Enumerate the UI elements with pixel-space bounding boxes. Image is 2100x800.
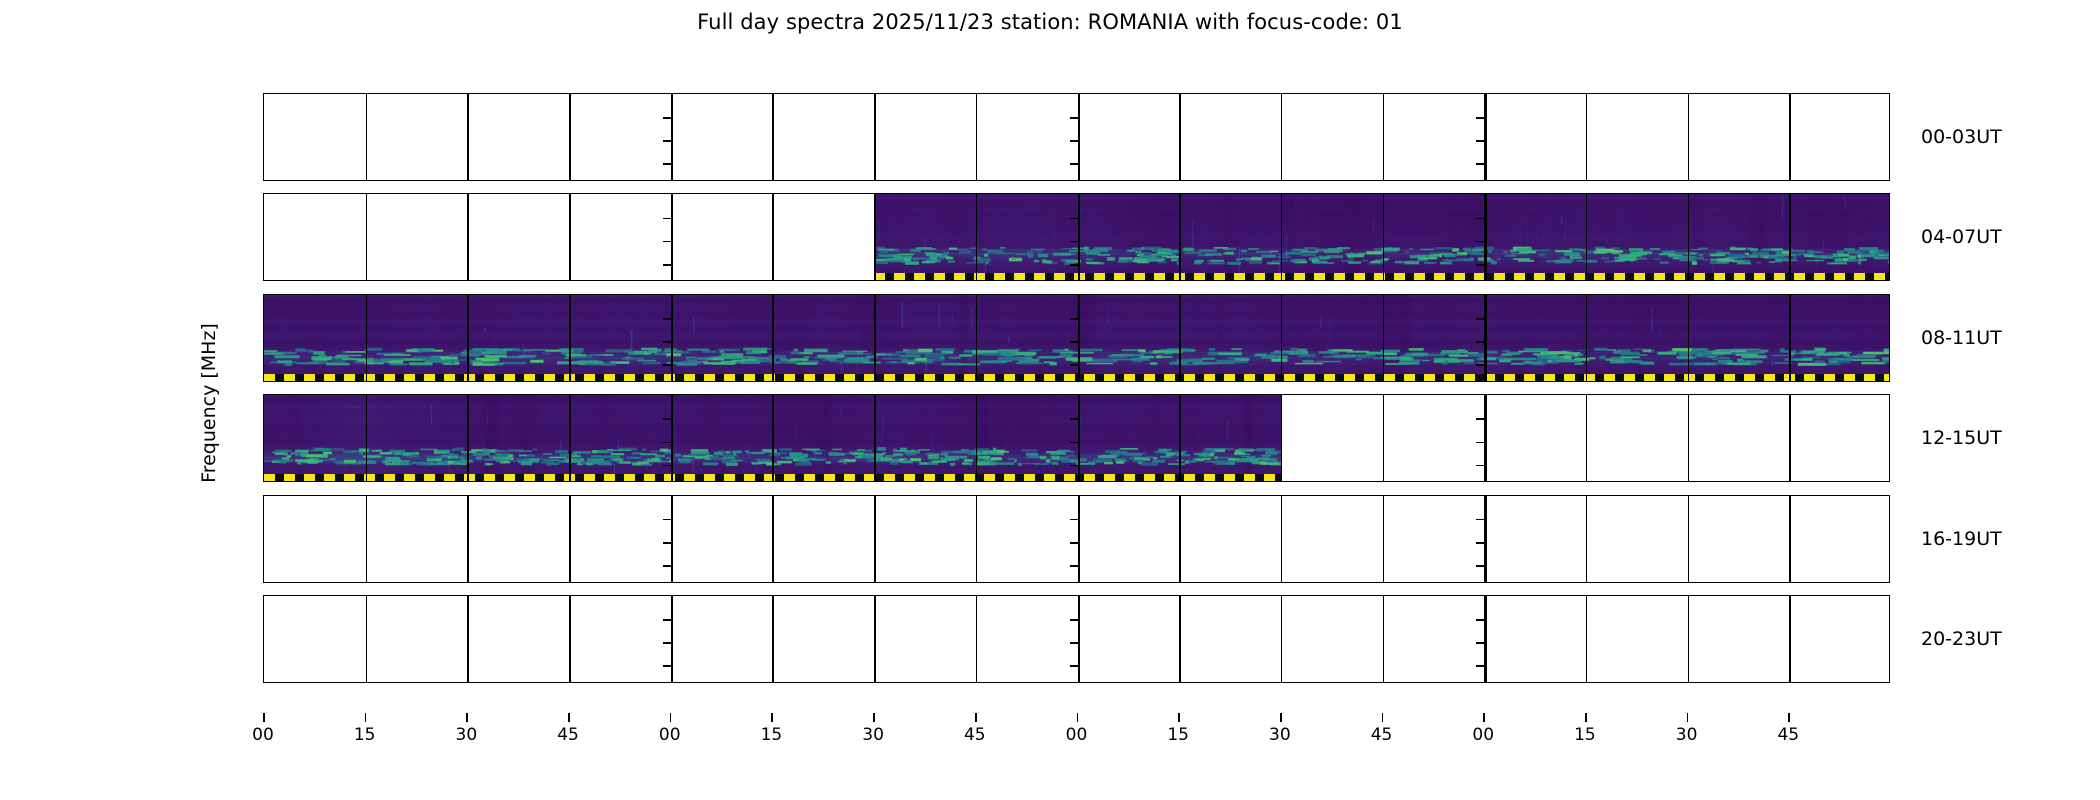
y-tick-mark xyxy=(263,619,264,621)
y-tick-mark-inner xyxy=(663,542,671,544)
panel-column-separator xyxy=(1688,94,1690,180)
panel-column-separator xyxy=(366,395,368,481)
y-tick-mark xyxy=(263,418,264,420)
panel-column-separator xyxy=(1078,94,1081,180)
panel-column-separator xyxy=(467,596,469,682)
x-tick-label: 00 xyxy=(252,727,274,744)
y-tick-mark-inner xyxy=(663,465,671,467)
spectrogram-image xyxy=(874,194,1889,280)
x-tick-mark xyxy=(263,713,265,722)
panel-column-separator xyxy=(1688,496,1690,582)
panel-canvas-area xyxy=(264,596,1889,682)
burst-marker-dashed-line xyxy=(874,273,1889,280)
y-tick-mark-inner xyxy=(1070,465,1078,467)
y-tick-mark xyxy=(263,140,264,142)
panel-column-separator xyxy=(569,194,571,280)
panel-column-separator xyxy=(467,94,469,180)
x-tick-label: 15 xyxy=(1574,727,1596,744)
x-tick-label: 00 xyxy=(1066,727,1088,744)
x-tick-mark xyxy=(568,713,570,722)
x-tick-label: 45 xyxy=(1371,727,1393,744)
spectra-figure: Full day spectra 2025/11/23 station: ROM… xyxy=(0,0,2100,800)
y-tick-mark-inner xyxy=(663,665,671,667)
y-tick-mark-inner xyxy=(1070,218,1078,220)
panel-column-separator xyxy=(467,496,469,582)
panel-column-separator xyxy=(772,194,774,280)
panel-canvas-area xyxy=(264,295,1889,381)
panel-column-separator xyxy=(1179,194,1181,280)
y-tick-mark-inner xyxy=(663,241,671,243)
panel-column-separator xyxy=(1078,496,1081,582)
x-tick-label: 15 xyxy=(761,727,783,744)
panel-column-separator xyxy=(1179,295,1181,381)
panel-column-separator xyxy=(1281,194,1283,280)
panel-column-separator xyxy=(467,295,469,381)
x-tick-mark xyxy=(975,713,977,722)
panel-column-separator xyxy=(1484,295,1487,381)
x-tick-mark xyxy=(1178,713,1180,722)
y-tick-mark-inner xyxy=(1476,140,1484,142)
spectrogram-panel-04-07[interactable]: 300200100 xyxy=(263,193,1890,281)
panel-column-separator xyxy=(874,194,876,280)
x-tick-label: 00 xyxy=(659,727,681,744)
figure-title: Full day spectra 2025/11/23 station: ROM… xyxy=(0,10,2100,34)
x-tick-label: 00 xyxy=(1472,727,1494,744)
y-tick-mark-inner xyxy=(1476,619,1484,621)
burst-marker-dashed-line xyxy=(264,374,1889,381)
y-tick-mark-inner xyxy=(1070,665,1078,667)
y-tick-mark-inner xyxy=(1070,418,1078,420)
x-tick-mark xyxy=(670,713,672,722)
y-tick-mark-inner xyxy=(1070,241,1078,243)
x-tick-mark xyxy=(873,713,875,722)
panel-column-separator xyxy=(671,94,674,180)
panel-column-separator xyxy=(569,94,571,180)
panel-column-separator xyxy=(1179,94,1181,180)
y-tick-mark xyxy=(263,163,264,165)
y-tick-mark xyxy=(263,264,264,266)
y-tick-mark-inner xyxy=(1070,341,1078,343)
panel-column-separator xyxy=(1281,596,1283,682)
y-tick-mark xyxy=(263,642,264,644)
panel-column-separator xyxy=(1078,295,1081,381)
panel-column-separator xyxy=(1281,496,1283,582)
y-tick-mark-inner xyxy=(1476,519,1484,521)
panel-column-separator xyxy=(1383,496,1385,582)
panel-column-separator xyxy=(976,596,978,682)
y-tick-mark-inner xyxy=(1476,418,1484,420)
y-tick-mark-inner xyxy=(663,642,671,644)
y-tick-mark-inner xyxy=(1476,465,1484,467)
y-tick-mark-inner xyxy=(1070,519,1078,521)
x-tick-label: 30 xyxy=(456,727,478,744)
y-tick-mark-inner xyxy=(1476,542,1484,544)
y-tick-mark-inner xyxy=(663,117,671,119)
spectrogram-panel-16-19[interactable]: 300200100 xyxy=(263,495,1890,583)
y-tick-mark-inner xyxy=(1070,117,1078,119)
y-tick-mark-inner xyxy=(1476,442,1484,444)
y-tick-mark-inner xyxy=(663,418,671,420)
y-tick-mark-inner xyxy=(663,218,671,220)
panel-column-separator xyxy=(976,94,978,180)
panel-column-separator xyxy=(366,596,368,682)
y-tick-mark-inner xyxy=(1476,218,1484,220)
panel-column-separator xyxy=(671,496,674,582)
panel-column-separator xyxy=(1383,596,1385,682)
panel-column-separator xyxy=(1484,496,1487,582)
panel-column-separator xyxy=(1179,395,1181,481)
y-tick-mark-inner xyxy=(663,565,671,567)
y-tick-mark-inner xyxy=(663,442,671,444)
y-tick-mark xyxy=(263,318,264,320)
panel-column-separator xyxy=(1484,94,1487,180)
panel-column-separator xyxy=(366,295,368,381)
y-tick-mark xyxy=(263,465,264,467)
y-tick-mark xyxy=(263,117,264,119)
y-tick-mark-inner xyxy=(1070,318,1078,320)
y-tick-mark-inner xyxy=(663,341,671,343)
x-tick-mark xyxy=(1687,713,1689,722)
panel-column-separator xyxy=(1789,596,1791,682)
x-tick-label: 45 xyxy=(964,727,986,744)
panel-column-separator xyxy=(976,295,978,381)
panel-column-separator xyxy=(874,395,876,481)
x-tick-label: 30 xyxy=(1676,727,1698,744)
y-tick-mark-inner xyxy=(1476,364,1484,366)
panel-column-separator xyxy=(1383,94,1385,180)
panel-column-separator xyxy=(569,596,571,682)
panel-column-separator xyxy=(1179,596,1181,682)
panel-column-separator xyxy=(467,194,469,280)
y-tick-mark-inner xyxy=(663,163,671,165)
panel-column-separator xyxy=(1586,94,1588,180)
panel-column-separator xyxy=(874,295,876,381)
y-tick-mark-inner xyxy=(1070,442,1078,444)
panel-column-separator xyxy=(1586,496,1588,582)
panel-column-separator xyxy=(1789,295,1791,381)
panel-column-separator xyxy=(1586,194,1588,280)
x-tick-label: 15 xyxy=(1167,727,1189,744)
panel-column-separator xyxy=(1789,94,1791,180)
panel-column-separator xyxy=(1078,596,1081,682)
panel-canvas-area xyxy=(264,395,1889,481)
x-tick-mark xyxy=(1788,713,1790,722)
y-tick-mark-inner xyxy=(663,519,671,521)
y-tick-mark-inner xyxy=(1070,264,1078,266)
x-tick-mark xyxy=(1483,713,1485,722)
panel-time-label-20-23: 20-23UT xyxy=(1921,628,2002,650)
panel-column-separator xyxy=(366,94,368,180)
y-tick-mark-inner xyxy=(1476,318,1484,320)
y-tick-mark-inner xyxy=(1070,163,1078,165)
panel-column-separator xyxy=(1078,194,1081,280)
panel-column-separator xyxy=(772,395,774,481)
panel-column-separator xyxy=(569,295,571,381)
panel-column-separator xyxy=(1281,94,1283,180)
panel-column-separator xyxy=(772,596,774,682)
y-tick-mark xyxy=(263,442,264,444)
spectrogram-panel-20-23[interactable]: 300200100 xyxy=(263,595,1890,683)
panel-column-separator xyxy=(1383,395,1385,481)
panel-column-separator xyxy=(1383,194,1385,280)
panel-column-separator xyxy=(671,596,674,682)
y-tick-mark-inner xyxy=(1070,619,1078,621)
x-tick-label: 30 xyxy=(1269,727,1291,744)
panel-column-separator xyxy=(976,395,978,481)
y-tick-mark-inner xyxy=(1476,565,1484,567)
panel-canvas-area xyxy=(264,94,1889,180)
x-tick-label: 45 xyxy=(557,727,579,744)
panel-column-separator xyxy=(1688,596,1690,682)
spectrogram-image xyxy=(264,295,1889,381)
panel-column-separator xyxy=(569,496,571,582)
y-tick-mark-inner xyxy=(1476,163,1484,165)
x-tick-mark xyxy=(1585,713,1587,722)
y-tick-mark xyxy=(263,241,264,243)
y-tick-mark-inner xyxy=(1070,364,1078,366)
y-tick-mark-inner xyxy=(663,364,671,366)
y-tick-mark xyxy=(263,218,264,220)
x-tick-mark xyxy=(466,713,468,722)
x-tick-mark xyxy=(1382,713,1384,722)
panel-time-label-04-07: 04-07UT xyxy=(1921,226,2002,248)
panel-column-separator xyxy=(1688,194,1690,280)
panel-column-separator xyxy=(1383,295,1385,381)
panel-column-separator xyxy=(1179,496,1181,582)
x-tick-mark xyxy=(1280,713,1282,722)
panel-column-separator xyxy=(1789,496,1791,582)
y-tick-mark xyxy=(263,542,264,544)
panel-column-separator xyxy=(366,496,368,582)
panel-column-separator xyxy=(1281,295,1283,381)
panel-column-separator xyxy=(467,395,469,481)
spectrogram-panel-00-03[interactable]: 300200100 xyxy=(263,93,1890,181)
y-tick-mark-inner xyxy=(1476,642,1484,644)
panel-column-separator xyxy=(772,496,774,582)
panel-canvas-area xyxy=(264,194,1889,280)
spectrogram-panel-08-11[interactable]: 300200100 xyxy=(263,294,1890,382)
y-tick-mark-inner xyxy=(1070,565,1078,567)
y-tick-mark-inner xyxy=(1070,542,1078,544)
panel-time-label-12-15: 12-15UT xyxy=(1921,427,2002,449)
panel-column-separator xyxy=(1484,395,1487,481)
panel-column-separator xyxy=(772,94,774,180)
y-axis-label-text: Frequency [MHz] xyxy=(198,323,220,483)
spectrogram-panel-12-15[interactable]: 300200100 xyxy=(263,394,1890,482)
panel-column-separator xyxy=(976,496,978,582)
y-tick-mark-inner xyxy=(663,140,671,142)
panel-column-separator xyxy=(1688,295,1690,381)
x-tick-mark xyxy=(771,713,773,722)
panel-column-separator xyxy=(874,596,876,682)
panel-column-separator xyxy=(1789,194,1791,280)
y-tick-mark-inner xyxy=(1476,665,1484,667)
panel-column-separator xyxy=(671,295,674,381)
y-tick-mark xyxy=(263,665,264,667)
panel-column-separator xyxy=(569,395,571,481)
panel-column-separator xyxy=(1281,395,1283,481)
y-tick-mark-inner xyxy=(663,318,671,320)
panel-column-separator xyxy=(366,194,368,280)
panel-time-label-16-19: 16-19UT xyxy=(1921,528,2002,550)
y-tick-mark xyxy=(263,519,264,521)
y-tick-mark-inner xyxy=(1070,642,1078,644)
y-tick-mark xyxy=(263,364,264,366)
panel-column-separator xyxy=(1484,194,1487,280)
panel-column-separator xyxy=(1688,395,1690,481)
y-tick-mark-inner xyxy=(1476,341,1484,343)
panel-column-separator xyxy=(1078,395,1081,481)
y-tick-mark xyxy=(263,341,264,343)
y-tick-mark-inner xyxy=(663,264,671,266)
panel-column-separator xyxy=(1484,596,1487,682)
panel-canvas-area xyxy=(264,496,1889,582)
x-tick-label: 30 xyxy=(862,727,884,744)
panel-column-separator xyxy=(1586,295,1588,381)
y-tick-mark-inner xyxy=(1476,117,1484,119)
x-tick-mark xyxy=(365,713,367,722)
y-tick-mark-inner xyxy=(1476,264,1484,266)
y-tick-mark-inner xyxy=(1476,241,1484,243)
x-tick-label: 15 xyxy=(354,727,376,744)
panel-column-separator xyxy=(671,395,674,481)
panel-column-separator xyxy=(671,194,674,280)
y-tick-mark xyxy=(263,565,264,567)
panel-column-separator xyxy=(1789,395,1791,481)
panel-time-label-08-11: 08-11UT xyxy=(1921,327,2002,349)
x-tick-label: 45 xyxy=(1777,727,1799,744)
panel-column-separator xyxy=(874,496,876,582)
panel-column-separator xyxy=(1586,395,1588,481)
y-tick-mark-inner xyxy=(663,619,671,621)
panel-time-label-00-03: 00-03UT xyxy=(1921,126,2002,148)
panel-column-separator xyxy=(874,94,876,180)
panel-column-separator xyxy=(1586,596,1588,682)
x-tick-mark xyxy=(1077,713,1079,722)
panel-column-separator xyxy=(976,194,978,280)
y-tick-mark-inner xyxy=(1070,140,1078,142)
panel-column-separator xyxy=(772,295,774,381)
y-axis-label: Frequency [MHz] xyxy=(196,93,222,713)
